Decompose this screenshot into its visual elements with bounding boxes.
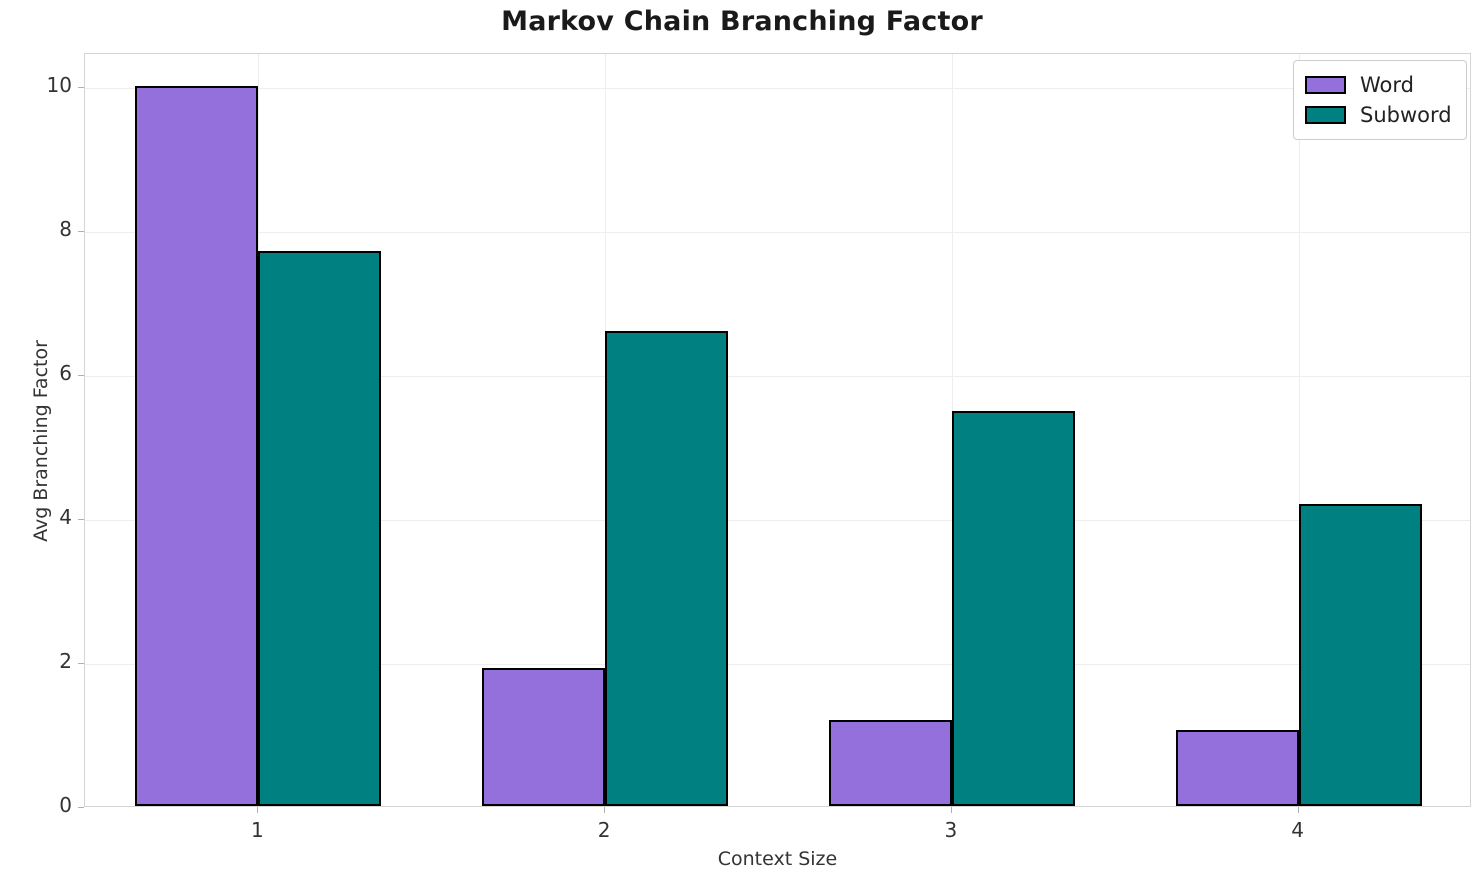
x-tick-mark-3 <box>951 807 952 813</box>
y-tick-label-0: 0 <box>0 793 72 817</box>
x-axis-label: Context Size <box>84 848 1471 870</box>
y-tick-mark-4 <box>78 519 84 520</box>
x-tick-mark-2 <box>604 807 605 813</box>
x-tick-label-3: 3 <box>945 818 958 842</box>
bar-word-4 <box>1176 730 1299 806</box>
legend-entry-word: Word <box>1305 70 1452 100</box>
chart-title: Markov Chain Branching Factor <box>0 6 1484 37</box>
legend-entry-subword: Subword <box>1305 100 1452 130</box>
bar-subword-3 <box>952 411 1075 806</box>
bar-word-2 <box>482 668 605 806</box>
y-tick-mark-2 <box>78 663 84 664</box>
y-tick-mark-6 <box>78 375 84 376</box>
legend-swatch-subword <box>1305 106 1346 124</box>
bar-subword-2 <box>605 331 728 806</box>
chart-legend: Word Subword <box>1293 60 1467 140</box>
y-tick-label-10: 10 <box>0 73 72 97</box>
y-tick-mark-10 <box>78 87 84 88</box>
x-tick-label-2: 2 <box>598 818 611 842</box>
bar-subword-1 <box>258 251 381 806</box>
bar-subword-4 <box>1299 504 1422 806</box>
legend-label-word: Word <box>1360 73 1414 97</box>
legend-swatch-word <box>1305 76 1346 94</box>
y-axis-label: Avg Branching Factor <box>30 141 52 741</box>
x-tick-mark-1 <box>257 807 258 813</box>
chart-figure: Markov Chain Branching Factor 0246810 12… <box>0 0 1484 885</box>
legend-label-subword: Subword <box>1360 103 1452 127</box>
gridline-y-10 <box>85 88 1470 89</box>
x-tick-label-4: 4 <box>1291 818 1304 842</box>
y-tick-mark-0 <box>78 807 84 808</box>
gridline-y-8 <box>85 232 1470 233</box>
bar-word-3 <box>829 720 952 806</box>
x-tick-label-1: 1 <box>251 818 264 842</box>
x-tick-mark-4 <box>1298 807 1299 813</box>
y-tick-mark-8 <box>78 231 84 232</box>
plot-area <box>84 53 1471 807</box>
bar-word-1 <box>135 86 258 806</box>
